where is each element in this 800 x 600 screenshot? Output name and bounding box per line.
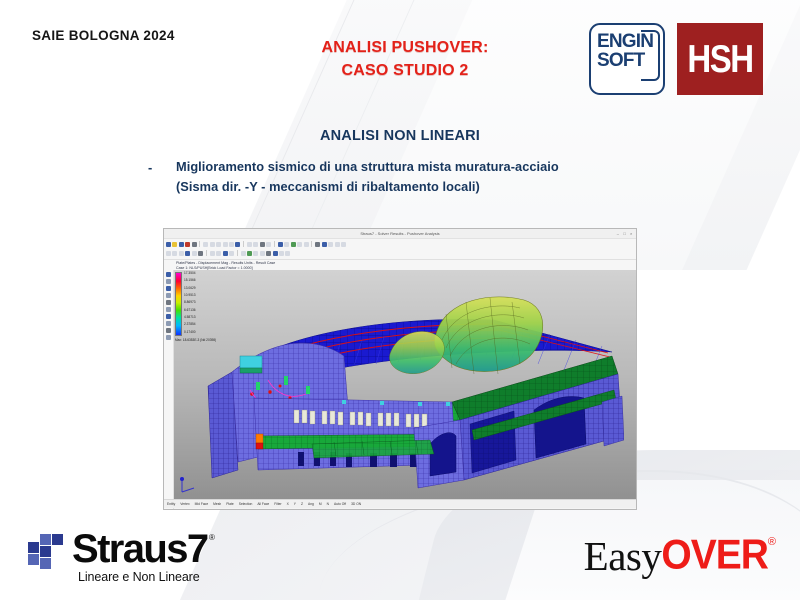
page-title-line-1: ANALISI PUSHOVER: [322, 39, 489, 56]
open-file-icon[interactable] [172, 242, 177, 247]
probe-icon[interactable] [297, 242, 302, 247]
copy-icon[interactable] [260, 251, 265, 256]
zoom-out-icon[interactable] [210, 242, 215, 247]
legend-label: 13.0629 [184, 287, 196, 291]
report-icon[interactable] [279, 251, 284, 256]
easyover-over-text: OVER [661, 533, 768, 580]
select-icon[interactable] [235, 242, 240, 247]
animate-icon[interactable] [285, 251, 290, 256]
status-item: X [287, 501, 289, 508]
axes-triad-icon [178, 474, 200, 494]
view-front-icon[interactable] [247, 242, 252, 247]
property-icon[interactable] [223, 251, 228, 256]
fea-window-title: Straus7 - Solver Results - Pushover Anal… [164, 230, 636, 237]
page-title-line-2: CASO STUDIO 2 [255, 59, 555, 82]
material-icon[interactable] [229, 251, 234, 256]
light-icon[interactable] [328, 242, 333, 247]
fea-viewport[interactable]: 17.3504 15.1566 13.0629 10.9513 8.86973 … [164, 270, 636, 508]
bullet-text-line-2: (Sisma dir. -Y - meccanismi di ribaltame… [176, 177, 708, 197]
event-kicker: SAIE BOLOGNA 2024 [32, 28, 175, 43]
toolbar-separator-5 [206, 250, 207, 256]
wireframe-icon[interactable] [166, 279, 171, 284]
bullet-text-line-1: Miglioramento sismico di una struttura m… [176, 157, 708, 177]
status-item: Mesh [213, 501, 221, 508]
fea-toolbar-row-2[interactable] [166, 249, 634, 257]
hsh-logo: HSH [677, 23, 763, 95]
fe-model-svg [194, 294, 624, 504]
new-file-icon[interactable] [166, 242, 171, 247]
mass-icon[interactable] [216, 251, 221, 256]
node-icon[interactable] [166, 251, 171, 256]
grid-icon[interactable] [315, 242, 320, 247]
view-iso-icon[interactable] [260, 242, 265, 247]
rotate-icon[interactable] [229, 242, 234, 247]
shaded-icon[interactable] [166, 286, 171, 291]
zoom-in-icon[interactable] [203, 242, 208, 247]
contour-legend-colorbar [175, 272, 182, 336]
edges-icon[interactable] [166, 300, 171, 305]
status-item: N [327, 501, 329, 508]
contour-icon[interactable] [284, 242, 289, 247]
toolbar-separator-4 [311, 241, 312, 247]
restraint-icon[interactable] [198, 251, 203, 256]
straus7-tagline: Lineare e Non Lineare [78, 570, 200, 584]
fea-toolbar[interactable] [164, 239, 636, 260]
beam-icon[interactable] [172, 251, 177, 256]
legend-label: 15.1566 [184, 279, 196, 283]
status-item: M [319, 501, 322, 508]
easyover-registered-mark: ® [768, 536, 776, 548]
link-icon[interactable] [192, 251, 197, 256]
status-item: Plate [226, 501, 234, 508]
fea-toolbar-row-1[interactable] [166, 240, 634, 248]
section-heading: ANALISI NON LINEARI [0, 128, 800, 144]
subdivide-icon[interactable] [247, 251, 252, 256]
bullet-item: - Miglioramento sismico di una struttura… [148, 157, 708, 197]
enginsoft-logo-line-1: ENGIN [597, 33, 653, 52]
status-item: Y [294, 501, 296, 508]
pan-icon[interactable] [223, 242, 228, 247]
settings-icon[interactable] [335, 242, 340, 247]
view-mode-icon[interactable] [166, 272, 171, 277]
status-item: Ang [308, 501, 314, 508]
status-item: Selection [239, 501, 253, 508]
scale-icon[interactable] [166, 314, 171, 319]
status-item: Z [301, 501, 303, 508]
easyover-logo: EasyOVER® [526, 532, 776, 584]
fea-window-titlebar: Straus7 - Solver Results - Pushover Anal… [164, 229, 636, 239]
contour-fill-icon[interactable] [166, 293, 171, 298]
toolbar-separator [199, 241, 200, 247]
status-item: Vertex [180, 501, 189, 508]
solver-icon[interactable] [273, 251, 278, 256]
enginsoft-logo-line-2: SOFT [597, 52, 653, 71]
freebody-icon[interactable] [166, 307, 171, 312]
straus7-grid-icon [28, 534, 68, 570]
clip-icon[interactable] [166, 321, 171, 326]
straus7-registered-mark: ® [209, 533, 215, 542]
straus7-wordmark: Straus7 [72, 526, 208, 572]
toolbar-separator-3 [274, 241, 275, 247]
status-item: 3D ON [351, 501, 361, 508]
print-icon[interactable] [185, 242, 190, 247]
straus7-logo: Straus7 ® Lineare e Non Lineare [28, 530, 243, 588]
extrude-icon[interactable] [253, 251, 258, 256]
load-icon[interactable] [210, 251, 215, 256]
fea-screenshot: Straus7 - Solver Results - Pushover Anal… [163, 228, 637, 510]
legend-label: 17.3504 [184, 272, 196, 276]
bullet-marker: - [148, 158, 164, 178]
hsh-logo-text: HSH [687, 37, 752, 82]
page-title: ANALISI PUSHOVER: CASO STUDIO 2 [255, 36, 555, 82]
status-item: Entity [167, 501, 175, 508]
status-item: Filter [274, 501, 281, 508]
brick-icon[interactable] [185, 251, 190, 256]
toolbar-separator-2 [243, 241, 244, 247]
fea-statusbar: Entity Vertex Mid Face Mesh Plate Select… [164, 499, 636, 508]
contour-legend: 17.3504 15.1566 13.0629 10.9513 8.86973 … [175, 272, 196, 336]
status-item: Mid Face [195, 501, 209, 508]
toolbar-separator-6 [237, 250, 238, 256]
render-icon[interactable] [266, 242, 271, 247]
legend-toggle-icon[interactable] [166, 335, 171, 340]
easyover-easy-text: Easy [584, 533, 662, 579]
view-top-icon[interactable] [253, 242, 258, 247]
section-icon[interactable] [166, 328, 171, 333]
fea-result-info: Plate/Plates - Displacement Mag - Result… [164, 260, 636, 270]
mirror-icon[interactable] [266, 251, 271, 256]
status-item: All Face [257, 501, 269, 508]
zoom-fit-icon[interactable] [216, 242, 221, 247]
axes-icon[interactable] [322, 242, 327, 247]
enginsoft-logo: ENGIN SOFT [589, 23, 665, 95]
plate-icon[interactable] [179, 251, 184, 256]
help-icon[interactable] [341, 242, 346, 247]
fea-window-controls[interactable]: – □ × [617, 230, 634, 237]
deform-icon[interactable] [291, 242, 296, 247]
results-icon[interactable] [278, 242, 283, 247]
undo-icon[interactable] [192, 242, 197, 247]
mesh-tool-icon[interactable] [241, 251, 246, 256]
fea-left-toolstrip[interactable] [164, 270, 174, 510]
fe-model-render [194, 294, 624, 504]
enginsoft-logo-text: ENGIN SOFT [597, 33, 653, 71]
save-icon[interactable] [179, 242, 184, 247]
measure-icon[interactable] [304, 242, 309, 247]
status-item: Auto Off [334, 501, 346, 508]
